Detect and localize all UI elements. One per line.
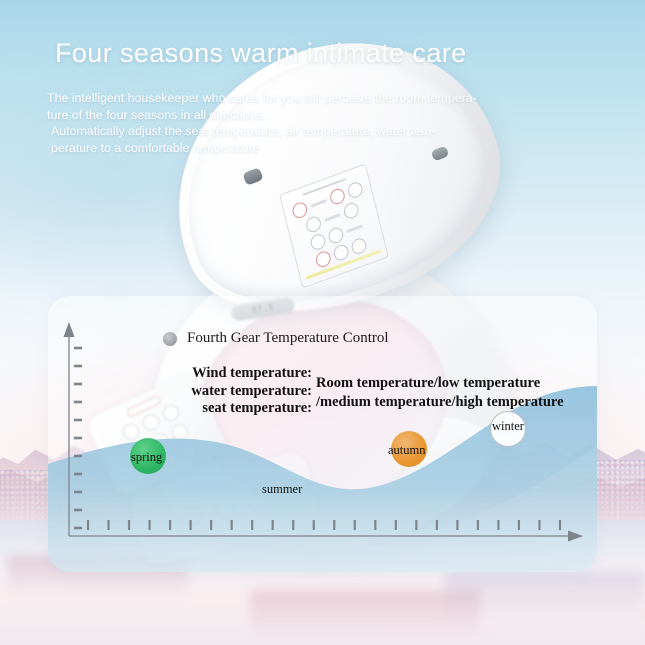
- y-axis-ticks: [74, 348, 82, 528]
- x-axis-arrow-icon: [568, 531, 583, 542]
- temperature-label-water: water temperature:: [166, 383, 312, 401]
- panel-button-温-icon: [332, 243, 350, 263]
- page-title: Four seasons warm intimate care: [55, 38, 467, 69]
- feature-bullet-row: Fourth Gear Temperature Control: [163, 330, 389, 347]
- panel-button-dry-icon: [342, 201, 360, 221]
- temperature-spec-labels: Wind temperature: water temperature: sea…: [166, 365, 312, 418]
- page-subtitle: The intelligent housekeeper who cares fo…: [47, 90, 567, 156]
- temperature-spec-block: Wind temperature: water temperature: sea…: [166, 365, 564, 418]
- subtitle-line: perature to a comfortable temperature: [51, 140, 567, 157]
- panel-button-fan-icon: [350, 236, 368, 256]
- season-label-summer: summer: [262, 482, 302, 497]
- feature-bullet-label: Fourth Gear Temperature Control: [187, 330, 389, 347]
- temperature-label-seat: seat temperature:: [166, 400, 312, 418]
- panel-button-alert-icon: [314, 249, 332, 269]
- panel-button-seat-icon: [346, 180, 364, 200]
- temperature-value-line: Room temperature/low temperature: [316, 374, 564, 393]
- panel-button-wash-icon: [304, 214, 322, 234]
- subtitle-line: The intelligent housekeeper who cares fo…: [47, 90, 567, 107]
- panel-button-power-icon: [291, 200, 309, 220]
- panel-label-text-bar: [310, 199, 327, 208]
- temperature-value-line: /medium temperature/high temperature: [316, 393, 564, 412]
- product-banner: 37.5: [0, 0, 645, 645]
- panel-button-bidet-icon: [309, 232, 327, 252]
- y-axis-arrow-icon: [64, 322, 75, 337]
- temperature-spec-values: Room temperature/low temperature /medium…: [316, 374, 564, 412]
- subtitle-line: Automatically adjust the seat temperatur…: [51, 123, 567, 140]
- subtitle-line: ture of the four seasons in all directio…: [47, 107, 567, 124]
- temperature-label-wind: Wind temperature:: [166, 365, 312, 383]
- panel-button-nozzle-icon: [326, 226, 344, 246]
- water-reflection-right: [445, 572, 645, 620]
- bullet-circle-icon: [163, 332, 177, 346]
- panel-button-stop-icon: [329, 186, 347, 206]
- x-axis-ticks: [88, 520, 560, 530]
- season-label-spring: spring: [131, 450, 162, 465]
- panel-label-text-bar: [324, 213, 341, 222]
- season-label-autumn: autumn: [388, 443, 426, 458]
- season-label-winter: winter: [492, 419, 524, 434]
- panel-label-text-bar: [346, 224, 363, 233]
